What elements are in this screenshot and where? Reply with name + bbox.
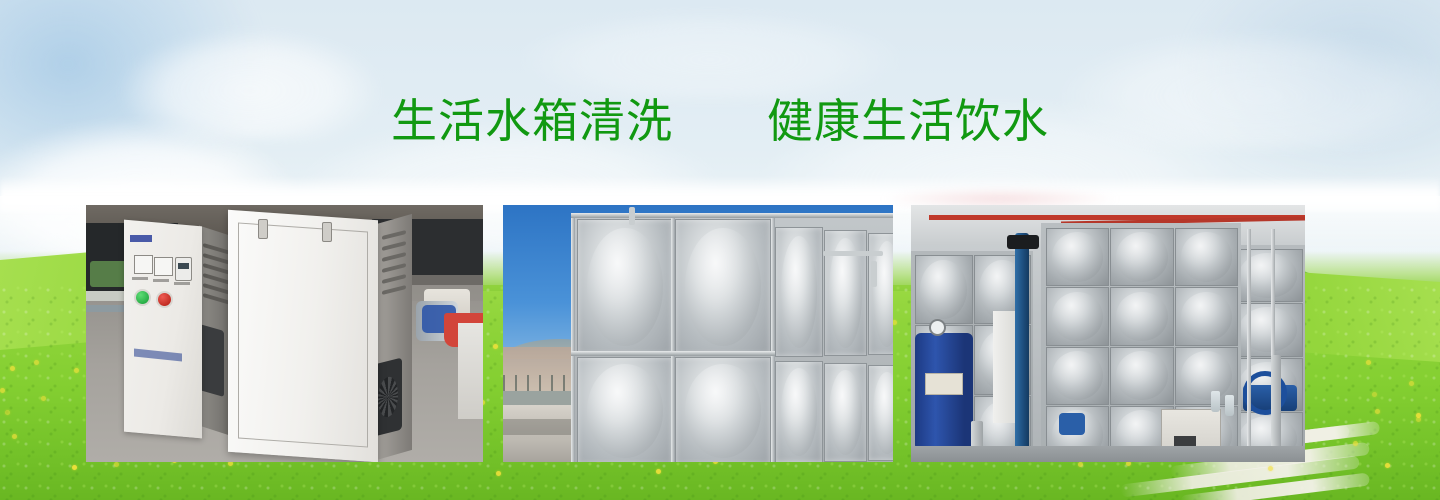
background-clutter xyxy=(406,275,483,285)
pressure-gauge-icon xyxy=(929,319,946,336)
photo-plant-room[interactable] xyxy=(911,205,1305,462)
tank-frame xyxy=(771,213,775,462)
tank-pipe xyxy=(871,261,877,287)
tank-panel xyxy=(1233,303,1303,356)
pipe-joint xyxy=(1007,235,1039,249)
flower xyxy=(0,388,5,393)
adjacent-cabinet xyxy=(458,323,483,419)
vertical-rail xyxy=(1247,229,1251,462)
flower xyxy=(1375,409,1380,414)
flower xyxy=(656,469,661,474)
page-title: 生活水箱清洗 健康生活饮水 xyxy=(0,92,1440,150)
promo-banner: 生活水箱清洗 健康生活饮水 xyxy=(0,0,1440,500)
water-bottle xyxy=(1225,395,1234,416)
tank-panel xyxy=(1110,228,1173,286)
tank-panel xyxy=(1175,287,1238,345)
tank-frame xyxy=(571,213,893,218)
vent-louvers-icon xyxy=(203,247,231,309)
tank-panel xyxy=(775,227,823,357)
gauge-icon xyxy=(154,257,173,276)
floor-line xyxy=(911,446,1305,462)
tank-panel xyxy=(1046,228,1109,286)
cooling-fan xyxy=(374,358,402,437)
tank-frame xyxy=(571,213,575,462)
vent-louvers-icon xyxy=(382,233,406,303)
tank-frame xyxy=(671,213,675,462)
control-label xyxy=(132,277,148,280)
tank-panel xyxy=(1175,228,1238,286)
brand-logo xyxy=(130,235,152,242)
rear-control-cabinet xyxy=(124,220,202,439)
stainless-water-tank xyxy=(571,213,893,462)
tank-panel xyxy=(1233,249,1303,302)
gauge-icon xyxy=(134,255,153,274)
tank-pipe xyxy=(823,251,883,256)
photo-rooftop-tank[interactable] xyxy=(503,205,893,462)
tank-panel xyxy=(675,357,771,462)
tank-panel xyxy=(775,361,823,462)
tank-panel xyxy=(1046,347,1109,405)
photo-control-cabinet[interactable] xyxy=(86,205,483,462)
water-bottle xyxy=(1211,391,1220,412)
equipment-label xyxy=(925,373,963,395)
tank-panel xyxy=(1110,347,1173,405)
wall-panel xyxy=(993,311,1015,423)
tank-panel xyxy=(915,255,973,324)
control-label xyxy=(174,282,190,285)
stop-button[interactable] xyxy=(156,291,173,308)
blue-riser-pipe xyxy=(1015,233,1029,462)
blue-valve xyxy=(1059,413,1085,435)
tank-panel xyxy=(1110,287,1173,345)
digital-meter xyxy=(175,257,192,281)
tank-panel xyxy=(577,357,673,462)
cloud-shape xyxy=(520,10,900,100)
tank-panel xyxy=(824,363,867,462)
flower xyxy=(74,368,79,373)
tank-panel xyxy=(824,230,867,356)
flower xyxy=(72,465,77,470)
tank-frame xyxy=(571,351,775,356)
door-latch-icon xyxy=(322,222,332,242)
door-latch-icon xyxy=(258,219,268,239)
tank-panel xyxy=(675,219,771,355)
tank-panel xyxy=(577,219,673,355)
flower xyxy=(1385,463,1390,468)
cabinet-door-panel xyxy=(238,222,368,447)
tank-pipe xyxy=(629,207,635,225)
flower xyxy=(12,434,17,439)
start-button[interactable] xyxy=(134,289,151,306)
tank-panel xyxy=(868,365,893,461)
tank-panel xyxy=(1046,287,1109,345)
control-label xyxy=(153,279,169,282)
